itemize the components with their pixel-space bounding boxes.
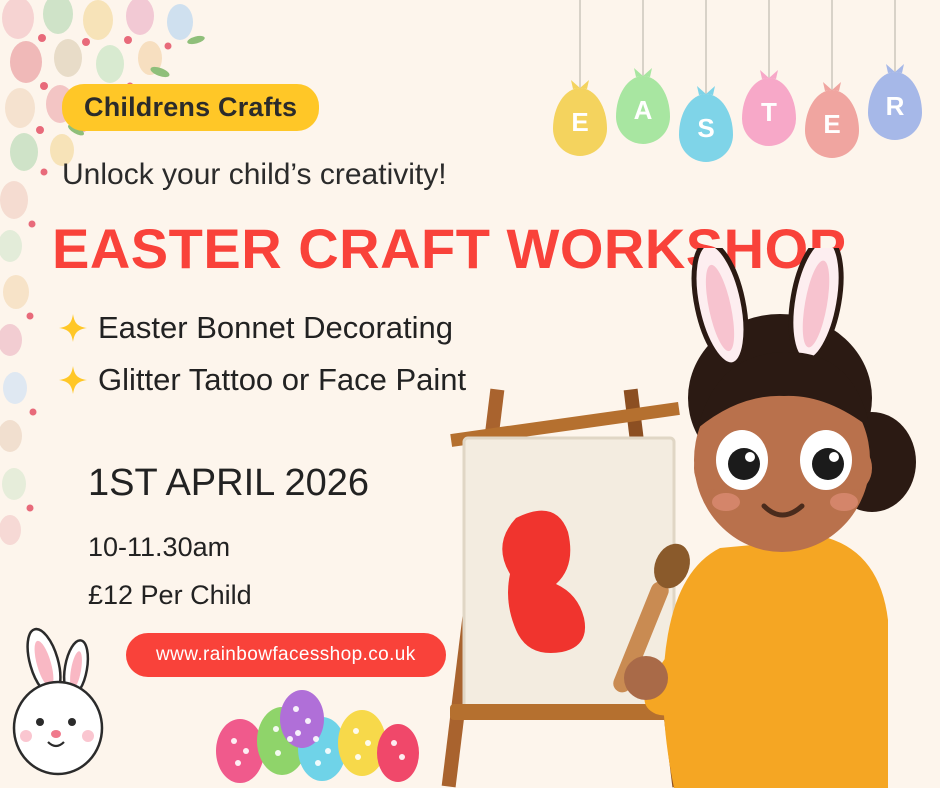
bow-icon <box>758 68 780 82</box>
egg-string <box>831 0 833 92</box>
tagline: Unlock your child’s creativity! <box>62 158 447 192</box>
bow-icon <box>821 80 843 94</box>
list-item: Easter Bonnet Decorating <box>58 310 466 346</box>
hanging-egg-letter: R <box>868 72 922 140</box>
bow-icon <box>632 66 654 80</box>
easter-craft-workshop-poster: E A S T E R Childrens Crafts <box>0 0 940 788</box>
website-button[interactable]: www.rainbowfacesshop.co.uk <box>126 633 446 677</box>
hanging-egg-4: E <box>804 0 860 158</box>
easter-egg-pile-icon <box>210 689 420 784</box>
event-time: 10-11.30am <box>88 532 230 563</box>
egg-string <box>579 0 581 90</box>
activity-label: Glitter Tattoo or Face Paint <box>98 362 466 398</box>
hanging-egg-2: S <box>678 0 734 162</box>
hanging-egg-letter: A <box>616 76 670 144</box>
bow-icon <box>884 62 906 76</box>
category-badge: Childrens Crafts <box>62 84 319 131</box>
bow-icon <box>695 84 717 98</box>
hanging-egg-1: A <box>615 0 671 144</box>
event-price: £12 Per Child <box>88 580 252 611</box>
hanging-egg-letter: E <box>805 90 859 158</box>
bunny-icon <box>0 618 120 788</box>
event-date: 1ST APRIL 2026 <box>88 462 369 505</box>
left-floral-strip-icon <box>0 0 60 660</box>
sparkle-icon <box>58 365 88 395</box>
hanging-easter-letters: E A S T E R <box>552 0 932 230</box>
sparkle-icon <box>58 313 88 343</box>
activity-label: Easter Bonnet Decorating <box>98 310 453 346</box>
bow-icon <box>569 78 591 92</box>
hanging-egg-letter: T <box>742 78 796 146</box>
hanging-egg-letter: S <box>679 94 733 162</box>
activity-list: Easter Bonnet Decorating Glitter Tattoo … <box>58 310 466 414</box>
hanging-egg-3: T <box>741 0 797 146</box>
list-item: Glitter Tattoo or Face Paint <box>58 362 466 398</box>
hanging-egg-0: E <box>552 0 608 156</box>
egg-string <box>705 0 707 96</box>
girl-painting-easel-icon <box>420 248 940 788</box>
hanging-egg-letter: E <box>553 88 607 156</box>
hanging-egg-5: R <box>867 0 923 140</box>
